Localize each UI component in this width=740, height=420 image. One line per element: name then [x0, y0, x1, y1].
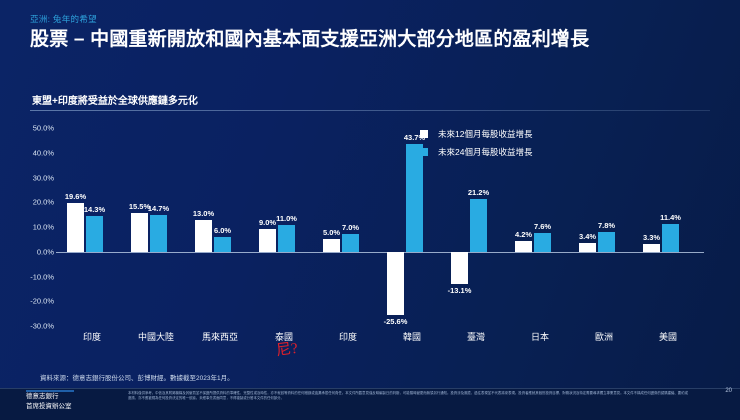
legend-item[interactable]: 未來12個月每股收益增長: [420, 128, 532, 140]
chart-bar: 14.7%: [150, 215, 167, 251]
chart-plot-area: 50.0%40.0%30.0%20.0%10.0%0.0%-10.0%-20.0…: [60, 128, 700, 326]
page-number: 20: [725, 388, 732, 394]
bar-value-label: 6.0%: [214, 226, 231, 235]
y-axis-tick-label: 20.0%: [33, 198, 54, 207]
bar-value-label: 14.7%: [148, 204, 169, 213]
legend-item[interactable]: 未來24個月每股收益增長: [420, 146, 532, 158]
page-title: 股票 – 中國重新開放和國內基本面支援亞洲大部分地區的盈利增長: [30, 24, 589, 51]
y-axis-tick-label: -10.0%: [30, 272, 54, 281]
chart-bar-group: 15.5%14.7%: [124, 128, 188, 326]
chart-bar-group: 13.0%6.0%: [188, 128, 252, 326]
chart-bar: 9.0%: [259, 229, 276, 251]
bar-value-label: 19.6%: [65, 192, 86, 201]
bar-value-label: 21.2%: [468, 188, 489, 197]
y-axis-tick-label: -20.0%: [30, 297, 54, 306]
bar-value-label: -13.1%: [448, 286, 472, 295]
legend-item-label: 未來24個月每股收益增長: [438, 146, 532, 158]
chart-bar: 15.5%: [131, 213, 148, 251]
blue-square-icon: [420, 148, 428, 156]
chart-title: 東盟+印度將受益於全球供應鏈多元化: [32, 92, 198, 107]
brand-logo-line2: 首席投資辦公室: [26, 402, 72, 412]
chart-legend: 未來12個月每股收益增長未來24個月每股收益增長: [420, 128, 532, 164]
chart-bar-group: 19.6%14.3%: [60, 128, 124, 326]
title-divider: [30, 110, 710, 111]
x-axis-category-label: 印度: [339, 330, 357, 343]
chart-bar: 11.0%: [278, 225, 295, 252]
chart-bar: 3.4%: [579, 243, 596, 251]
bar-value-label: 3.3%: [643, 233, 660, 242]
chart-bar: 7.8%: [598, 232, 615, 251]
x-axis-category-label: 韓國: [403, 330, 421, 343]
slide-canvas: 亞洲: 兔年的希望 股票 – 中國重新開放和國內基本面支援亞洲大部分地區的盈利增…: [0, 0, 740, 419]
chart-bar-group: 3.3%11.4%: [636, 128, 700, 326]
x-axis-category-label: 臺灣: [467, 330, 485, 343]
x-axis-category-label: 馬來西亞: [202, 330, 238, 343]
chart-bar-group: 9.0%11.0%: [252, 128, 316, 326]
bar-value-label: 5.0%: [323, 228, 340, 237]
chart-bar: 14.3%: [86, 216, 103, 251]
chart-bar-group: 3.4%7.8%: [572, 128, 636, 326]
bar-value-label: 4.2%: [515, 230, 532, 239]
chart-bar: 13.0%: [195, 220, 212, 252]
bar-value-label: 13.0%: [193, 209, 214, 218]
chart-bar: 7.6%: [534, 233, 551, 252]
y-axis-tick-label: 50.0%: [33, 124, 54, 133]
chart-bar: 21.2%: [470, 199, 487, 251]
chart-bar: -25.6%: [387, 252, 404, 315]
bar-value-label: -25.6%: [384, 317, 408, 326]
chart-bar: 6.0%: [214, 237, 231, 252]
source-note: 資料來源：德意志銀行股份公司、彭博財經。數據截至2023年1月。: [40, 372, 234, 382]
bar-value-label: 3.4%: [579, 232, 596, 241]
y-axis-tick-label: -30.0%: [30, 322, 54, 331]
bar-value-label: 9.0%: [259, 218, 276, 227]
white-square-icon: [420, 130, 428, 138]
bar-value-label: 7.0%: [342, 223, 359, 232]
legend-item-label: 未來12個月每股收益增長: [438, 128, 532, 140]
bar-value-label: 11.0%: [276, 214, 297, 223]
y-axis-tick-label: 40.0%: [33, 148, 54, 157]
chart-bar: 7.0%: [342, 234, 359, 251]
y-axis-tick-label: 0.0%: [37, 247, 54, 256]
bar-value-label: 7.6%: [534, 222, 551, 231]
chart-bar-group: 5.0%7.0%: [316, 128, 380, 326]
legal-disclaimer: 本材料僅供參考。中信及其附屬機構及其僱員並不保證所提供資料的準確性、完整性或及時…: [128, 391, 688, 402]
chart-bar: 11.4%: [662, 224, 679, 252]
x-axis-category-label: 印度: [83, 330, 101, 343]
handwritten-annotation: 尼?: [275, 337, 299, 360]
bar-value-label: 7.8%: [598, 221, 615, 230]
x-axis-category-label: 歐洲: [595, 330, 613, 343]
brand-logo-line1: 德意志銀行: [26, 392, 72, 402]
y-axis-tick-label: 30.0%: [33, 173, 54, 182]
bar-value-label: 14.3%: [84, 205, 105, 214]
chart-bar: 3.3%: [643, 244, 660, 252]
y-axis-tick-label: 10.0%: [33, 223, 54, 232]
chart-bar: -13.1%: [451, 252, 468, 284]
x-axis-category-label: 美國: [659, 330, 677, 343]
chart-bar: 5.0%: [323, 239, 340, 251]
bar-value-label: 11.4%: [660, 213, 681, 222]
chart-bar: 19.6%: [67, 203, 84, 252]
x-axis-category-label: 日本: [531, 330, 549, 343]
chart-bar: 4.2%: [515, 241, 532, 251]
brand-logo: 德意志銀行 首席投資辦公室: [26, 392, 72, 412]
x-axis-category-label: 中國大陸: [138, 330, 174, 343]
